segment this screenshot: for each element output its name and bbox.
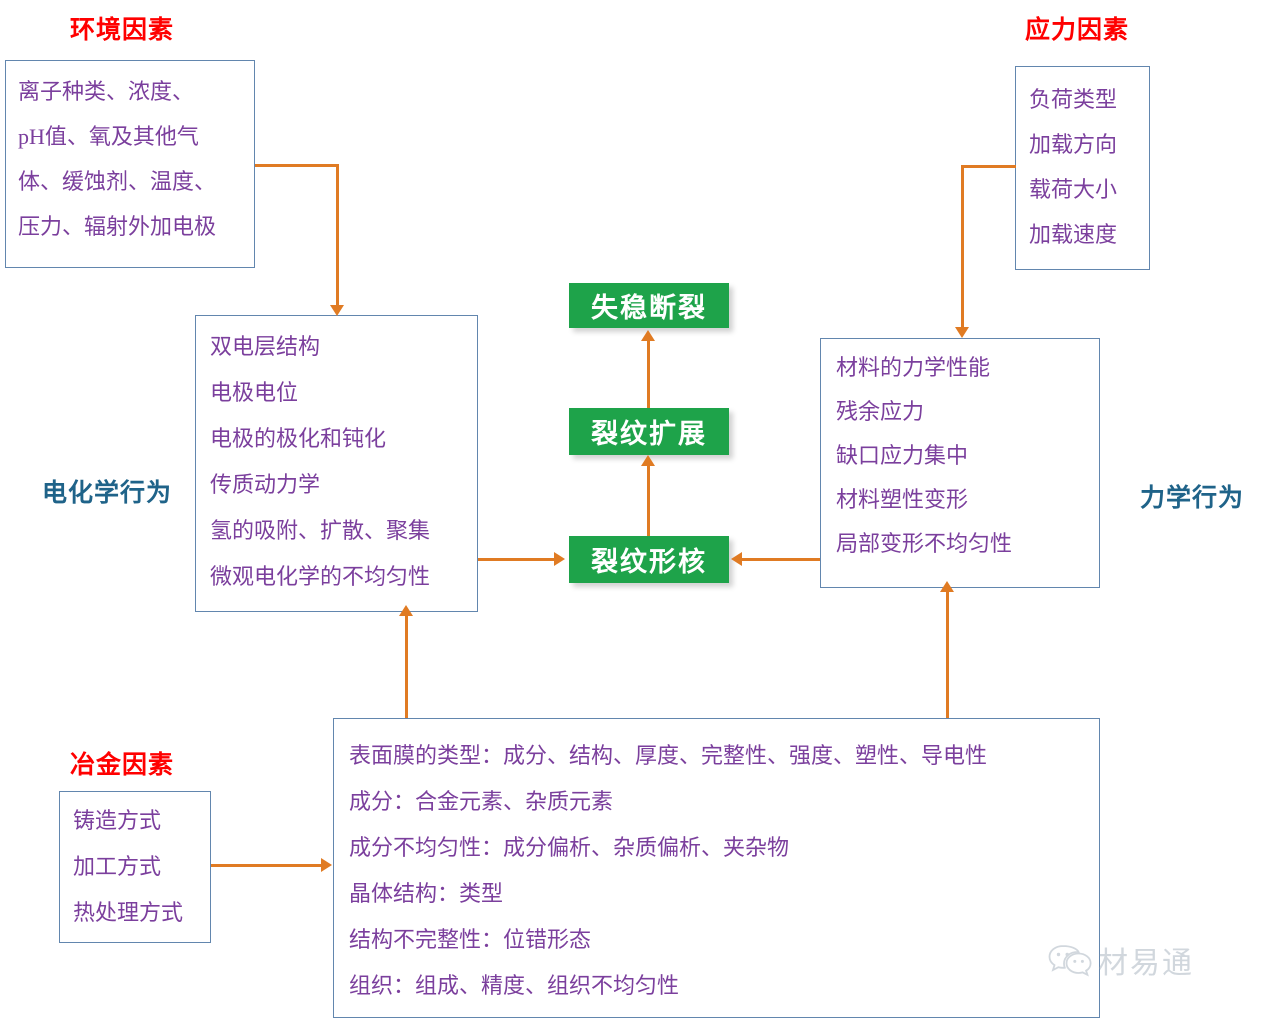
side-title-electrochemical-behavior: 电化学行为 xyxy=(42,473,172,509)
arrowhead-metallurgy-to-electrochemical xyxy=(399,605,413,616)
category-title-environment: 环境因素 xyxy=(70,10,174,46)
arrowhead-electrochemical-to-nucleation xyxy=(554,552,565,566)
stress-factors-box: 负荷类型 加载方向 载荷大小 加载速度 xyxy=(1015,66,1150,270)
arrowhead-environment-to-electrochemical xyxy=(330,305,344,316)
connector-mechanical-to-nucleation xyxy=(742,558,820,561)
electrochemical-line: 氢的吸附、扩散、聚集 xyxy=(210,520,430,542)
environment-line: pH值、氧及其他气 xyxy=(18,126,199,148)
arrowhead-nucleation-to-propagation xyxy=(641,455,655,466)
connector-metallurgy-to-electrochemical xyxy=(405,614,408,718)
stress-line: 负荷类型 xyxy=(1029,89,1117,111)
electrochemical-line: 电极电位 xyxy=(210,382,298,404)
process-label: 失稳断裂 xyxy=(591,286,707,325)
metallurgy-detail-box: 表面膜的类型：成分、结构、厚度、完整性、强度、塑性、导电性 成分：合金元素、杂质… xyxy=(333,718,1100,1018)
process-box-unstable-fracture: 失稳断裂 xyxy=(569,283,729,328)
wechat-icon xyxy=(1048,943,1092,977)
arrowhead-process-to-detail xyxy=(321,858,332,872)
process-box-crack-propagation: 裂纹扩展 xyxy=(569,408,729,455)
connector-nucleation-to-propagation xyxy=(647,464,650,536)
connector-stress-to-mechanical-horizontal xyxy=(961,165,1016,168)
electrochemical-behavior-box: 双电层结构 电极电位 电极的极化和钝化 传质动力学 氢的吸附、扩散、聚集 微观电… xyxy=(195,315,478,612)
metallurgy-process-line: 热处理方式 xyxy=(73,902,183,924)
metallurgy-detail-line: 晶体结构：类型 xyxy=(349,883,503,905)
mechanical-behavior-box: 材料的力学性能 残余应力 缺口应力集中 材料塑性变形 局部变形不均匀性 xyxy=(820,338,1100,588)
metallurgy-detail-line: 成分不均匀性：成分偏析、杂质偏析、夹杂物 xyxy=(349,837,789,859)
stress-line: 载荷大小 xyxy=(1029,179,1117,201)
category-title-stress: 应力因素 xyxy=(1025,10,1129,46)
connector-process-to-detail xyxy=(211,864,323,867)
stress-line: 加载方向 xyxy=(1029,134,1117,156)
electrochemical-line: 传质动力学 xyxy=(210,474,320,496)
metallurgy-detail-line: 组织：组成、精度、组织不均匀性 xyxy=(349,975,679,997)
connector-metallurgy-to-mechanical xyxy=(946,590,949,718)
environment-line: 离子种类、浓度、 xyxy=(18,81,194,103)
connector-electrochemical-to-nucleation xyxy=(478,558,556,561)
process-box-crack-nucleation: 裂纹形核 xyxy=(569,536,729,583)
arrowhead-stress-to-mechanical xyxy=(955,327,969,338)
environment-line: 压力、辐射外加电极 xyxy=(18,216,216,238)
stress-line: 加载速度 xyxy=(1029,224,1117,246)
connector-propagation-to-fracture xyxy=(647,339,650,408)
watermark: 材易通 xyxy=(1048,938,1194,982)
metallurgy-detail-line: 成分：合金元素、杂质元素 xyxy=(349,791,613,813)
electrochemical-line: 双电层结构 xyxy=(210,336,320,358)
diagram-canvas: 环境因素 应力因素 冶金因素 电化学行为 力学行为 离子种类、浓度、 pH值、氧… xyxy=(0,0,1267,1018)
side-title-mechanical-behavior: 力学行为 xyxy=(1140,478,1244,514)
connector-environment-to-electrochemical-horizontal xyxy=(255,164,339,167)
mechanical-line: 材料的力学性能 xyxy=(836,357,990,379)
process-label: 裂纹形核 xyxy=(591,540,707,579)
environment-line: 体、缓蚀剂、温度、 xyxy=(18,171,216,193)
mechanical-line: 缺口应力集中 xyxy=(836,445,968,467)
mechanical-line: 局部变形不均匀性 xyxy=(836,533,1012,555)
electrochemical-line: 微观电化学的不均匀性 xyxy=(210,566,430,588)
mechanical-line: 材料塑性变形 xyxy=(836,489,968,511)
electrochemical-line: 电极的极化和钝化 xyxy=(210,428,386,450)
mechanical-line: 残余应力 xyxy=(836,401,924,423)
metallurgy-process-line: 加工方式 xyxy=(73,856,161,878)
environment-factors-box: 离子种类、浓度、 pH值、氧及其他气 体、缓蚀剂、温度、 压力、辐射外加电极 xyxy=(5,60,255,268)
connector-environment-to-electrochemical-vertical xyxy=(336,164,339,307)
metallurgy-process-line: 铸造方式 xyxy=(73,810,161,832)
process-label: 裂纹扩展 xyxy=(591,412,707,451)
watermark-text: 材易通 xyxy=(1098,938,1194,982)
arrowhead-propagation-to-fracture xyxy=(641,330,655,341)
category-title-metallurgy: 冶金因素 xyxy=(70,745,174,781)
metallurgy-detail-line: 结构不完整性：位错形态 xyxy=(349,929,591,951)
metallurgy-process-box: 铸造方式 加工方式 热处理方式 xyxy=(59,791,211,943)
arrowhead-mechanical-to-nucleation xyxy=(731,552,742,566)
connector-stress-to-mechanical-vertical xyxy=(961,165,964,328)
arrowhead-metallurgy-to-mechanical xyxy=(940,581,954,592)
metallurgy-detail-line: 表面膜的类型：成分、结构、厚度、完整性、强度、塑性、导电性 xyxy=(349,745,987,767)
